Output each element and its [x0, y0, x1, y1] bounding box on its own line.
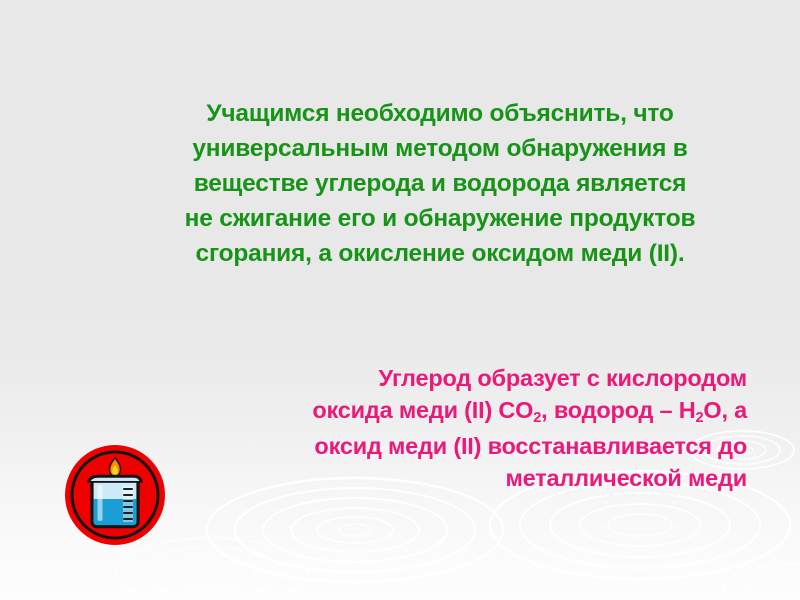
beaker-flame-badge-icon — [64, 444, 166, 546]
pink-formula-line: оксида меди (II) CO2, водород – H2O, а — [175, 394, 747, 430]
formula-text-between: , водород – H — [541, 397, 695, 423]
green-line-2: универсальным методом обнаружения в — [130, 131, 750, 166]
green-line-3: веществе углерода и водорода является — [130, 166, 750, 201]
green-line-4: не сжигание его и обнаружение продуктов — [130, 201, 750, 236]
formula-text-before: оксида меди (II) CO — [312, 397, 533, 423]
pink-paragraph: Углерод образует с кислородом оксида мед… — [175, 362, 747, 494]
pink-line-4: металлической меди — [175, 462, 747, 494]
co2-subscript: 2 — [533, 410, 541, 426]
h2o-subscript: 2 — [695, 410, 703, 426]
green-paragraph: Учащимся необходимо объяснить, что униве… — [130, 96, 750, 271]
green-line-5: сгорания, а окисление оксидом меди (II). — [130, 236, 750, 271]
slide-canvas: Учащимся необходимо объяснить, что униве… — [0, 0, 800, 600]
formula-text-after: O, а — [703, 397, 747, 423]
pink-line-1: Углерод образует с кислородом — [175, 362, 747, 394]
green-line-1: Учащимся необходимо объяснить, что — [130, 96, 750, 131]
pink-line-3: оксид меди (II) восстанавливается до — [175, 430, 747, 462]
